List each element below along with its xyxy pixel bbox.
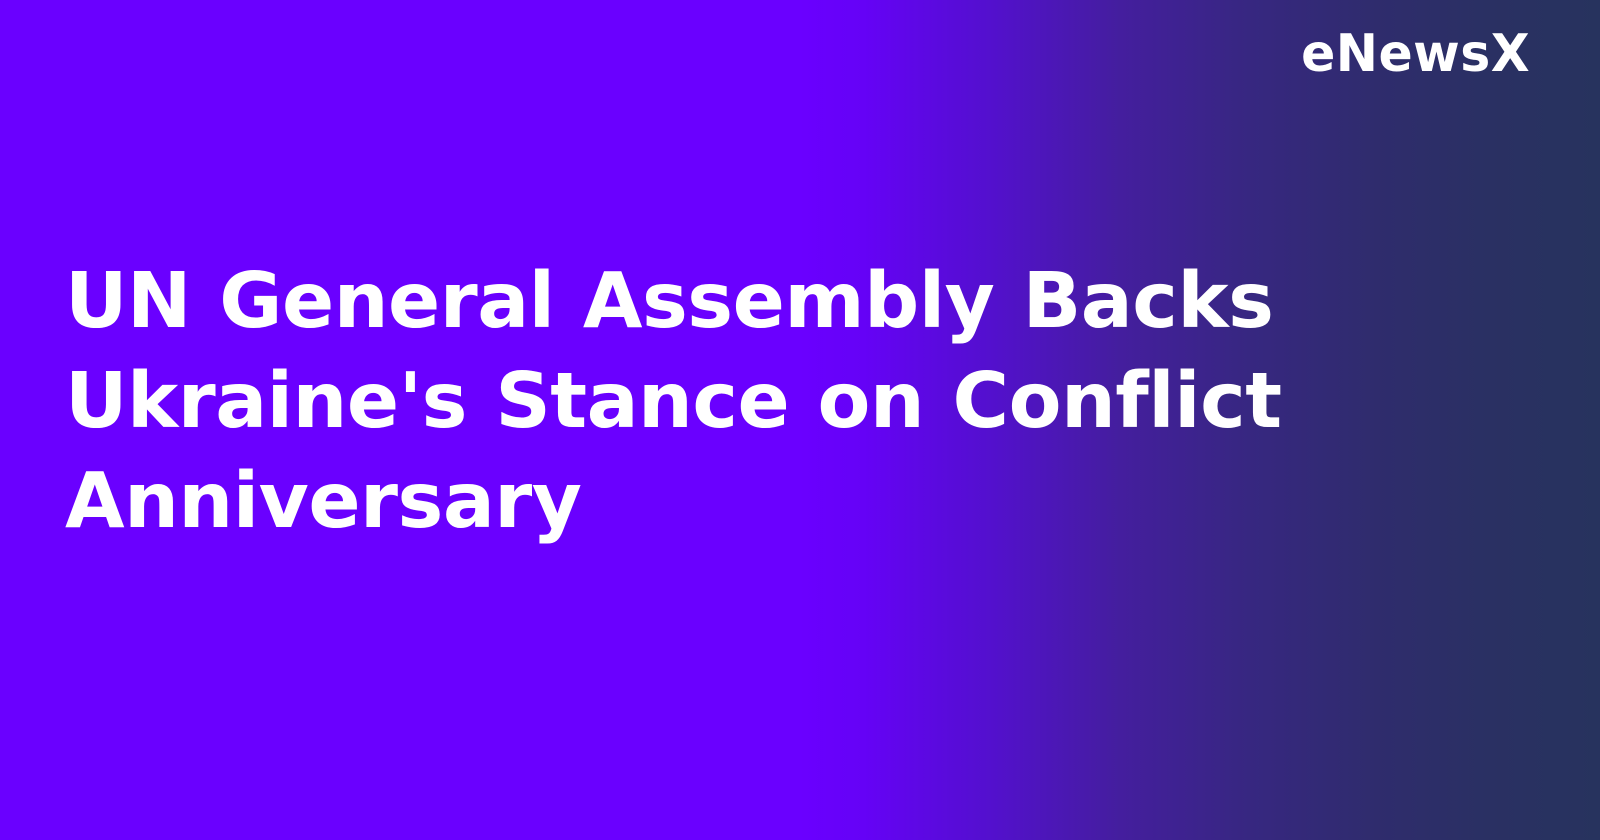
brand-header: eNewsX bbox=[1294, 28, 1530, 80]
brand-logo[interactable]: eNewsX bbox=[1301, 28, 1530, 80]
headline-block: UN General Assembly Backs Ukraine's Stan… bbox=[65, 252, 1465, 552]
news-headline-card: eNewsX UN General Assembly Backs Ukraine… bbox=[0, 0, 1600, 840]
page-title: UN General Assembly Backs Ukraine's Stan… bbox=[65, 252, 1405, 552]
